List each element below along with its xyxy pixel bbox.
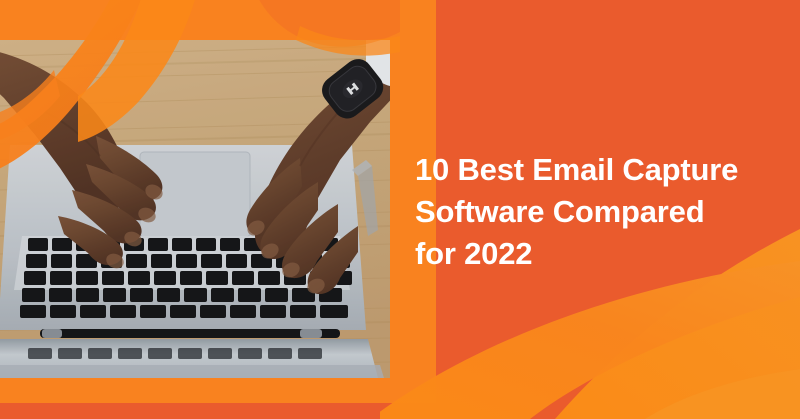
photo-illustration <box>0 40 390 378</box>
blog-header-banner: 10 Best Email Capture Software Compared … <box>0 0 800 419</box>
hero-photo-hands-typing-laptop <box>0 40 390 378</box>
page-title: 10 Best Email Capture Software Compared … <box>415 149 775 275</box>
